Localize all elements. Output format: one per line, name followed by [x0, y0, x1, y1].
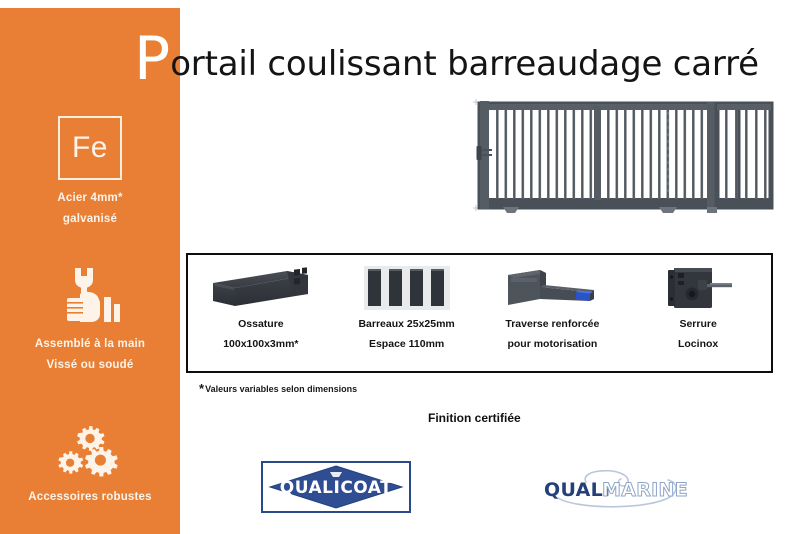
qualimarine-logo: QUALI MARINE	[528, 468, 700, 510]
feature-barreaux-line2: Espace 110mm	[369, 339, 444, 350]
feature-traverse-line1: Traverse renforcée	[505, 319, 599, 330]
page-title: Portail coulissant barreaudage carré	[134, 26, 759, 84]
feature-ossature: Ossature 100x100x3mm*	[188, 255, 334, 371]
qualicoat-logo: QUALICOAT	[261, 461, 411, 513]
gears-icon	[51, 413, 129, 483]
svg-text:QUALICOAT: QUALICOAT	[280, 478, 392, 498]
barreaux-bars-icon	[364, 262, 450, 314]
traverse-motor-icon	[498, 262, 606, 314]
feature-barreaux: Barreaux 25x25mm Espace 110mm	[334, 255, 480, 371]
svg-text:MARINE: MARINE	[602, 479, 688, 501]
sidebar-sublabel-material: galvanisé	[0, 213, 180, 225]
feature-traverse-line2: pour motorisation	[507, 339, 597, 350]
feature-serrure-line1: Serrure	[679, 319, 716, 330]
footnote-asterisk: *	[199, 381, 204, 396]
product-sheet-page: Fe Acier 4mm* galvanisé	[0, 0, 800, 534]
serrure-lock-icon	[658, 262, 738, 314]
sliding-gate-illustration	[463, 96, 785, 218]
sidebar-label-material: Acier 4mm*	[0, 192, 180, 204]
page-title-initial: P	[134, 30, 170, 88]
feature-ossature-line2: 100x100x3mm*	[223, 339, 298, 350]
feature-serrure: Serrure Locinox	[625, 255, 771, 371]
footnote: *Valeurs variables selon dimensions	[199, 381, 357, 396]
ossature-profile-icon	[209, 262, 313, 314]
fe-element-icon: Fe	[58, 116, 122, 180]
page-title-text: ortail coulissant barreaudage carré	[170, 44, 759, 84]
sidebar-item-assembly: Assemblé à la main Vissé ou soudé	[0, 266, 180, 371]
footnote-text: Valeurs variables selon dimensions	[205, 384, 357, 394]
hand-wrench-icon	[51, 266, 129, 328]
sidebar-label-assembly: Assemblé à la main	[0, 338, 180, 350]
feature-traverse: Traverse renforcée pour motorisation	[480, 255, 626, 371]
svg-text:QUALI: QUALI	[544, 479, 610, 501]
fe-symbol-label: Fe	[72, 133, 108, 163]
sidebar-item-accessories: Accessoires robustes	[0, 413, 180, 503]
sidebar-item-material: Fe Acier 4mm* galvanisé	[0, 116, 180, 225]
finition-certifiee-label: Finition certifiée	[428, 411, 521, 425]
features-box: Ossature 100x100x3mm* Barreaux 25x25mm	[186, 253, 773, 373]
sidebar-sublabel-assembly: Vissé ou soudé	[0, 359, 180, 371]
feature-ossature-line1: Ossature	[238, 319, 284, 330]
sidebar-label-accessories: Accessoires robustes	[0, 491, 180, 503]
feature-serrure-line2: Locinox	[678, 339, 718, 350]
feature-barreaux-line1: Barreaux 25x25mm	[358, 319, 454, 330]
